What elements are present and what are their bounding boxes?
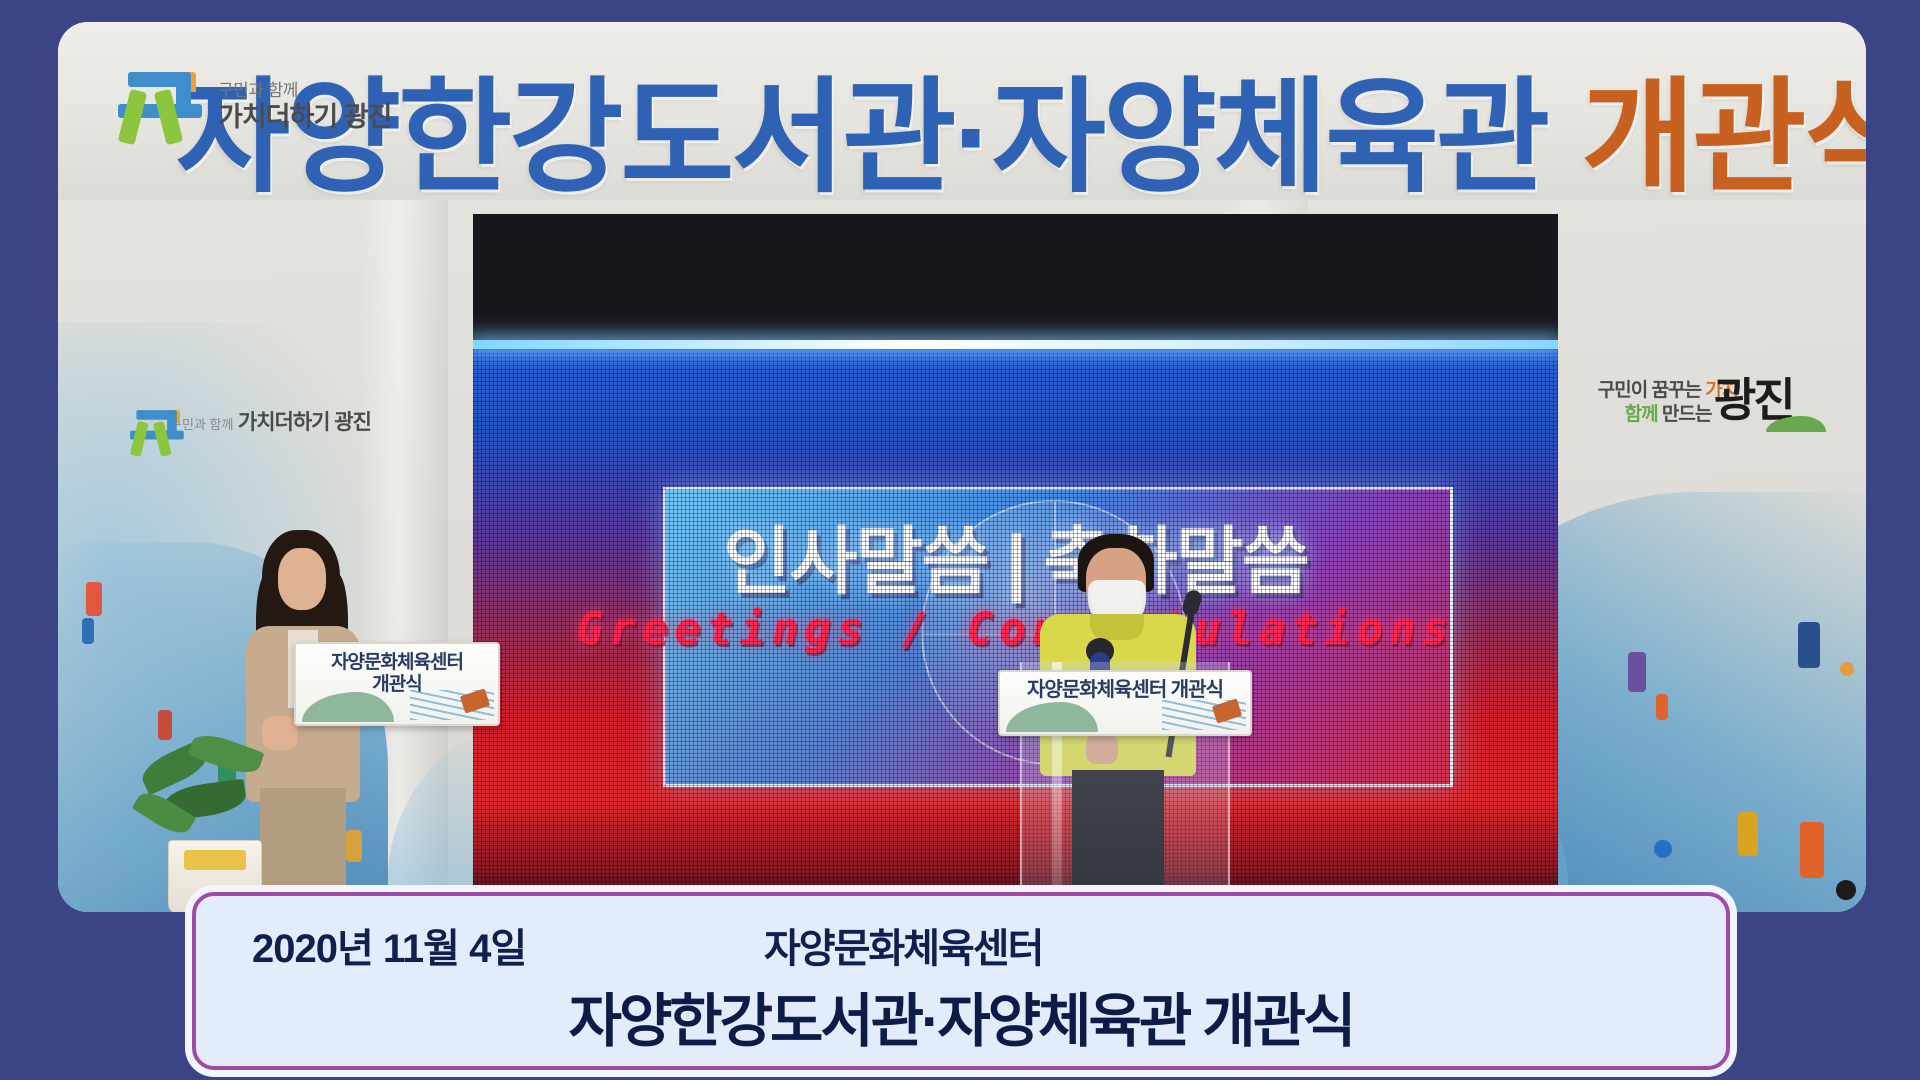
logo-right-line1a: 구민이 꿈꾸는: [1598, 380, 1705, 401]
caption-event-title: 자양한강도서관·자양체육관 개관식: [196, 974, 1726, 1058]
banner-title: 자양한강도서관·자양체육관개관식: [176, 36, 1866, 216]
decor-figure-sport: [1656, 694, 1668, 720]
caption-venue: 자양문화체육센터: [764, 916, 1042, 974]
podium-sign: 자양문화체육센터 개관식: [998, 670, 1252, 736]
decor-plant: [130, 722, 300, 912]
decor-figure-sport: [1798, 622, 1820, 668]
led-screen: 인사말씀 | 축하말씀 Greetings / Congratulations: [473, 214, 1558, 912]
decor-soccer-ball: [1836, 880, 1856, 900]
gwangjin-gj-mark-icon: [130, 402, 167, 439]
logo-tagline: 구민과 함께: [218, 82, 391, 99]
podium-sign-text: 자양문화체육센터 개관식: [1000, 672, 1250, 703]
logo-right-line2a: 함께: [1625, 404, 1658, 425]
gwangjin-logo-panel-left: 구민과 함께 가치더하기 광진: [130, 392, 371, 450]
gwangjin-gj-mark-icon: [118, 60, 210, 152]
decor-figure-sport: [1800, 822, 1824, 878]
led-gradient: 인사말씀 | 축하말씀 Greetings / Congratulations: [473, 342, 1558, 912]
logo-right-line2b: 만드는: [1658, 404, 1712, 425]
gwangjin-logo-panel-right: 구민이 꿈꾸는 가치 함께 만드는 광진: [1518, 380, 1818, 426]
decor-figure: [82, 618, 94, 644]
decor-figure-sport: [1628, 652, 1646, 692]
decor-ball: [1654, 840, 1672, 858]
caption-date: 2020년 11월 4일: [252, 916, 526, 974]
logo-name: 가치더하기 광진: [218, 104, 391, 131]
interpreter-sign: 자양문화체육센터 개관식: [294, 642, 500, 726]
decor-figure: [86, 582, 102, 616]
decor-figure-sport: [1738, 812, 1758, 856]
led-title: 인사말씀 | 축하말씀: [473, 502, 1558, 609]
led-subtitle: Greetings / Congratulations: [473, 604, 1558, 655]
led-dark-area: [473, 214, 1558, 342]
broadcast-frame: 자양한강도서관·자양체육관개관식 구민과 함께 가치더하기 광진: [0, 0, 1920, 1080]
decor-ball: [1840, 662, 1854, 676]
lower-third-caption: 2020년 11월 4일 자양문화체육센터 자양한강도서관·자양체육관 개관식: [192, 892, 1730, 1070]
led-highlight-line: [473, 340, 1558, 349]
logo-name: 가치더하기 광진: [238, 411, 371, 434]
stage-photo: 자양한강도서관·자양체육관개관식 구민과 함께 가치더하기 광진: [58, 22, 1866, 912]
interpreter-sign-line1: 자양문화체육센터: [296, 652, 498, 674]
banner-title-accent: 개관식: [1581, 69, 1866, 207]
gwangjin-logo-top: 구민과 함께 가치더하기 광진: [118, 60, 391, 152]
